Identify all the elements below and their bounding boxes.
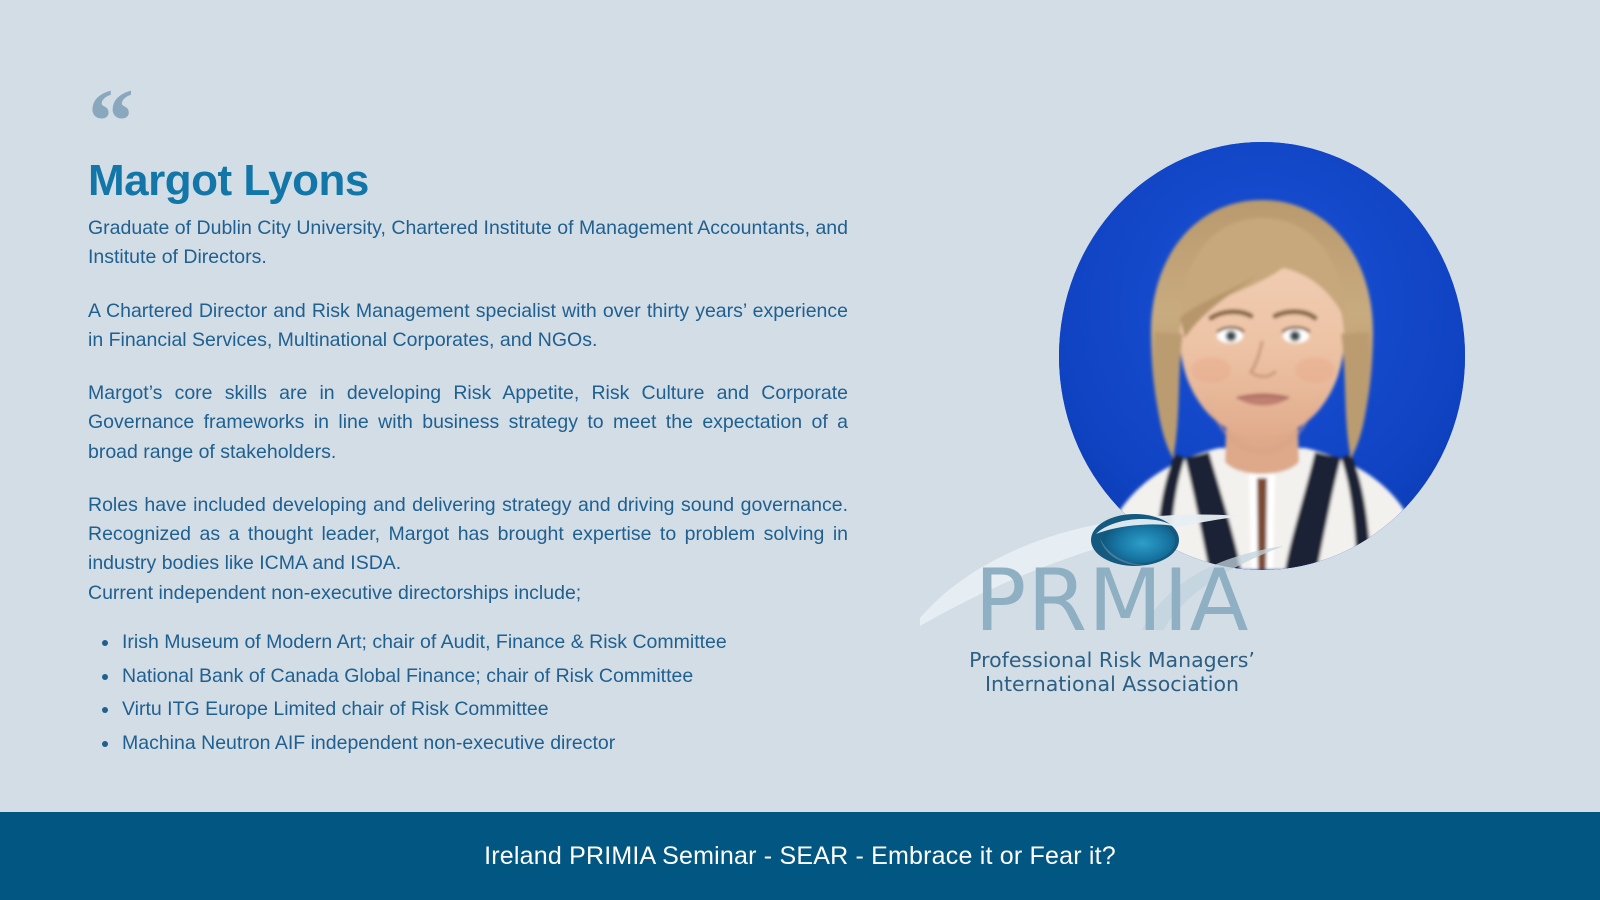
prmia-wordmark: PRMIA: [912, 558, 1312, 644]
list-item: Irish Museum of Modern Art; chair of Aud…: [122, 628, 848, 658]
page-title: Margot Lyons: [88, 158, 848, 204]
list-item: Virtu ITG Europe Limited chair of Risk C…: [122, 695, 848, 725]
list-item: Machina Neutron AIF independent non-exec…: [122, 729, 848, 759]
bio-paragraph-4: Roles have included developing and deliv…: [88, 491, 848, 579]
directorships-list: Irish Museum of Modern Art; chair of Aud…: [88, 628, 848, 759]
prmia-tagline-line-2: International Association: [912, 672, 1312, 696]
bio-paragraph-3: Margot’s core skills are in developing R…: [88, 379, 848, 467]
quote-mark-icon: “: [88, 96, 848, 152]
prmia-tagline-line-1: Professional Risk Managers’: [912, 648, 1312, 672]
speaker-bio-column: “ Margot Lyons Graduate of Dublin City U…: [88, 96, 848, 762]
prmia-logo: PRMIA Professional Risk Managers’ Intern…: [912, 500, 1312, 705]
footer-bar: Ireland PRIMIA Seminar - SEAR - Embrace …: [0, 812, 1600, 900]
prmia-tagline: Professional Risk Managers’ Internationa…: [912, 648, 1312, 696]
footer-title: Ireland PRIMIA Seminar - SEAR - Embrace …: [484, 842, 1116, 871]
slide-canvas: “ Margot Lyons Graduate of Dublin City U…: [0, 0, 1600, 900]
bio-paragraph-2: A Chartered Director and Risk Management…: [88, 297, 848, 356]
list-item: National Bank of Canada Global Finance; …: [122, 662, 848, 692]
directorships-lead-in: Current independent non-executive direct…: [88, 579, 848, 608]
bio-paragraph-1: Graduate of Dublin City University, Char…: [88, 214, 848, 273]
